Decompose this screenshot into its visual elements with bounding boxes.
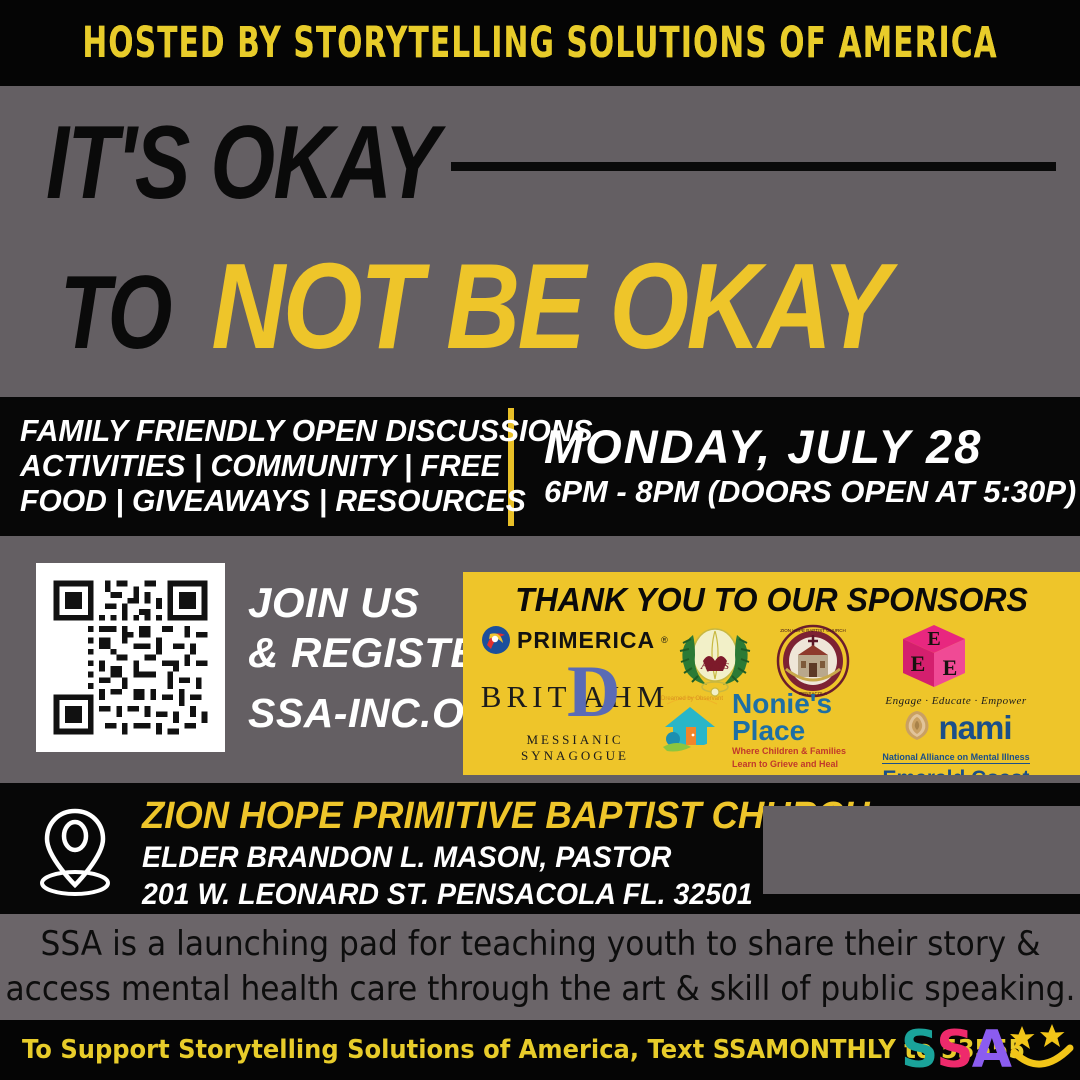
- svg-text:Aylus: Aylus: [700, 657, 729, 672]
- sponsor-logo-grid: PRIMERICA ® BRIT AHM D MESSIANIC SYNAGOG…: [463, 619, 1080, 775]
- sponsor-logo-eee-cube: E E E: [895, 619, 973, 699]
- event-date: MONDAY, JULY 28: [544, 421, 1076, 473]
- mission-line-2: access mental health care through the ar…: [5, 967, 1075, 1012]
- nami-swirl-icon: [900, 708, 934, 747]
- nonies-tagline-2: Learn to Grieve and Heal: [732, 759, 846, 770]
- support-text: To Support Storytelling Solutions of Ame…: [22, 1035, 1025, 1065]
- brit-dahm-subtitle: MESSIANIC SYNAGOGUE: [475, 732, 675, 764]
- headline-row-2: TO NOT BE OKAY: [46, 236, 952, 376]
- middle-section: JOIN US & REGISTER SSA-INC.ORG THANK YOU…: [0, 536, 1080, 783]
- sponsor-logo-nami: Engage · Educate · Empower nami: [861, 695, 1051, 775]
- brit-dahm-glyph-icon: D: [567, 655, 625, 729]
- svg-text:ZION HOPE BAPTIST CHURCH: ZION HOPE BAPTIST CHURCH: [780, 628, 845, 633]
- feature-line: FAMILY FRIENDLY OPEN DISCUSSIONS: [20, 414, 493, 449]
- sponsors-title: THANK YOU TO OUR SPONSORS: [472, 572, 1070, 619]
- mission-line-1: SSA is a launching pad for teaching yout…: [40, 922, 1040, 967]
- brit-dahm-wordmark: BRIT AHM D: [475, 681, 675, 712]
- qr-code[interactable]: [36, 563, 225, 752]
- venue-bar: ZION HOPE PRIMITIVE BAPTIST CHURCH ELDER…: [0, 783, 1080, 914]
- headline-row-1: IT'S OKAY: [46, 114, 1056, 213]
- nami-subtitle: National Alliance on Mental Illness: [882, 752, 1029, 764]
- headline-line-2-highlight: NOT BE OKAY: [211, 236, 887, 376]
- nami-chapter: Emerald Coast: [861, 767, 1051, 775]
- headline-rule: [451, 162, 1056, 171]
- venue-image-placeholder: [763, 806, 1080, 894]
- qr-code-icon: [48, 575, 213, 740]
- primerica-trademark: ®: [661, 635, 668, 645]
- feature-line: ACTIVITIES | COMMUNITY | FREE: [20, 449, 493, 484]
- top-banner: HOSTED BY STORYTELLING SOLUTIONS OF AMER…: [0, 0, 1080, 86]
- primerica-mark-icon: [481, 625, 511, 655]
- ssa-logo: S S A: [901, 1024, 1074, 1076]
- features-list: FAMILY FRIENDLY OPEN DISCUSSIONS ACTIVIT…: [0, 414, 508, 518]
- footer-bar: To Support Storytelling Solutions of Ame…: [0, 1020, 1080, 1080]
- event-flyer: HOSTED BY STORYTELLING SOLUTIONS OF AMER…: [0, 0, 1080, 1080]
- venue-name: ZION HOPE PRIMITIVE BAPTIST CHURCH: [142, 795, 870, 839]
- location-pin-icon: [30, 803, 120, 904]
- nami-tagline: Engage · Educate · Empower: [861, 695, 1051, 707]
- sponsor-logo-brit-dahm: BRIT AHM D MESSIANIC SYNAGOGUE: [475, 681, 675, 764]
- info-bar: FAMILY FRIENDLY OPEN DISCUSSIONS ACTIVIT…: [0, 397, 1080, 536]
- svg-text:Dreamed by Observant: Dreamed by Observant: [661, 696, 723, 702]
- svg-text:E: E: [911, 651, 926, 676]
- headline-line-1: IT'S OKAY: [46, 114, 438, 213]
- nami-wordmark: nami: [938, 711, 1011, 744]
- nami-wordmark-row: nami: [861, 708, 1051, 747]
- sponsors-panel: THANK YOU TO OUR SPONSORS PRIMERICA ®: [463, 572, 1080, 775]
- event-time: 6PM - 8PM (DOORS OPEN AT 5:30P): [544, 473, 1076, 512]
- sponsor-logo-nonies-place: Dreamed by Observant Nonie's Place: [657, 691, 846, 771]
- venue-address: 201 W. LEONARD ST. PENSACOLA FL. 32501: [142, 876, 862, 914]
- nonies-line-2: Place: [732, 718, 846, 745]
- date-time-block: MONDAY, JULY 28 6PM - 8PM (DOORS OPEN AT…: [514, 421, 1076, 511]
- venue-pastor: ELDER BRANDON L. MASON, PASTOR: [142, 839, 862, 877]
- nonies-house-icon: Dreamed by Observant: [657, 691, 727, 762]
- svg-text:E: E: [927, 628, 940, 650]
- ssa-logo-a: A: [972, 1024, 1010, 1076]
- ssa-logo-s1: S: [901, 1024, 936, 1076]
- nonies-line-1: Nonie's: [732, 691, 846, 718]
- ssa-logo-s2: S: [936, 1024, 971, 1076]
- svg-text:E: E: [943, 655, 958, 680]
- star-eyes-smiley-icon: [1010, 1022, 1074, 1079]
- headline-section: IT'S OKAY TO NOT BE OKAY: [0, 86, 1080, 391]
- host-banner-text: HOSTED BY STORYTELLING SOLUTIONS OF AMER…: [82, 19, 997, 67]
- mission-statement: SSA is a launching pad for teaching yout…: [0, 914, 1080, 1020]
- primerica-wordmark: PRIMERICA: [517, 627, 655, 654]
- nonies-place-wordmark: Nonie's Place Where Children & Families …: [732, 691, 846, 771]
- nonies-tagline-1: Where Children & Families: [732, 746, 846, 757]
- feature-line: FOOD | GIVEAWAYS | RESOURCES: [20, 484, 493, 519]
- eee-cube-icon: E E E: [895, 619, 973, 699]
- headline-line-2-prefix: TO: [60, 254, 171, 373]
